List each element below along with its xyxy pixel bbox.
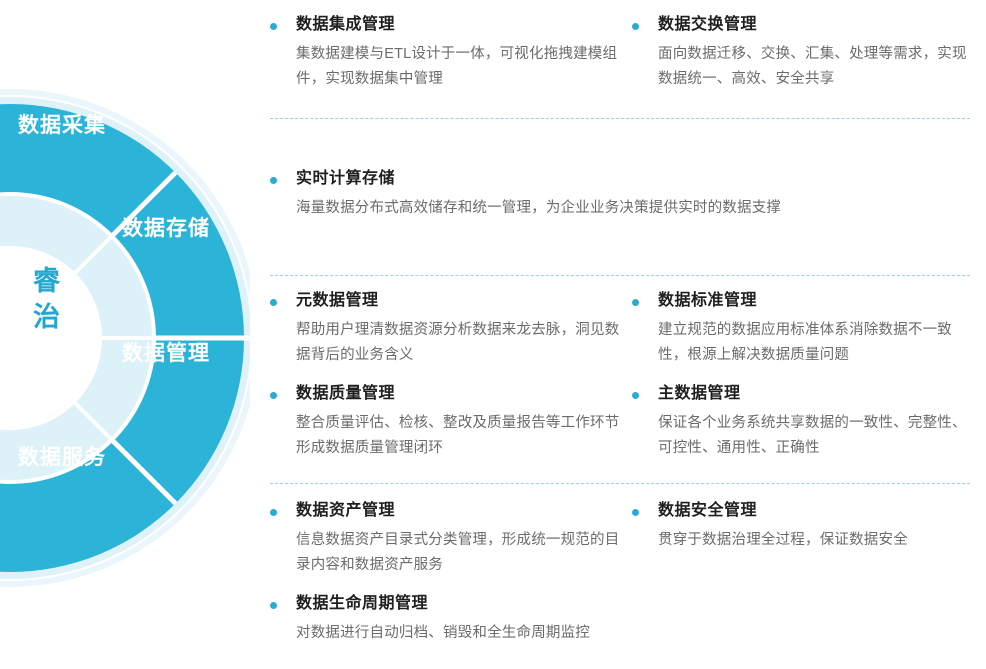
wheel-core-label-line-1: 睿 [33, 266, 61, 296]
detail-item[interactable]: 数据生命周期管理 对数据进行自动归档、销毁和全生命周期监控 [270, 593, 620, 646]
detail-item[interactable]: 数据交换管理 面向数据迁移、交换、汇集、处理等需求，实现数据统一、高效、安全共享 [632, 14, 980, 91]
detail-item[interactable]: 实时计算存储 海量数据分布式高效储存和统一管理，为企业业务决策提供实时的数据支撑 [270, 168, 982, 221]
group-divider [270, 275, 970, 276]
bullet-icon [632, 509, 639, 516]
detail-item-title: 数据集成管理 [296, 14, 620, 36]
detail-item-title: 数据安全管理 [658, 500, 980, 522]
detail-item-description: 对数据进行自动归档、销毁和全生命周期监控 [296, 621, 620, 646]
bullet-icon [270, 177, 277, 184]
bullet-icon [632, 23, 639, 30]
bullet-icon [632, 299, 639, 306]
detail-item-title: 数据标准管理 [658, 290, 980, 312]
detail-item-description: 贯穿于数据治理全过程，保证数据安全 [658, 528, 980, 553]
detail-item-description: 海量数据分布式高效储存和统一管理，为企业业务决策提供实时的数据支撑 [296, 196, 982, 221]
capability-wheel-diagram: 睿 治 数据采集 数据存储 数据管理 数据服务 [0, 0, 270, 669]
bullet-icon [270, 392, 277, 399]
detail-item[interactable]: 数据安全管理 贯穿于数据治理全过程，保证数据安全 [632, 500, 980, 553]
detail-column-right: 数据交换管理 面向数据迁移、交换、汇集、处理等需求，实现数据统一、高效、安全共享 [632, 14, 980, 91]
group-divider [270, 118, 970, 119]
detail-item-description: 保证各个业务系统共享数据的一致性、完整性、可控性、通用性、正确性 [658, 411, 980, 461]
detail-item-title: 数据资产管理 [296, 500, 620, 522]
detail-item-description: 集数据建模与ETL设计于一体，可视化拖拽建模组件，实现数据集中管理 [296, 42, 620, 92]
detail-item-description: 面向数据迁移、交换、汇集、处理等需求，实现数据统一、高效、安全共享 [658, 42, 980, 92]
wheel-sector-label-manage[interactable]: 数据管理 [122, 341, 210, 365]
wheel-core-label-line-2: 治 [33, 302, 61, 332]
detail-item-title: 数据交换管理 [658, 14, 980, 36]
detail-item-title: 主数据管理 [658, 383, 980, 405]
detail-column-left: 元数据管理 帮助用户理清数据资源分析数据来龙去脉，洞见数据背后的业务含义 数据质… [270, 290, 620, 461]
group-divider [270, 483, 970, 484]
detail-item-title: 数据质量管理 [296, 383, 620, 405]
detail-column-left: 数据集成管理 集数据建模与ETL设计于一体，可视化拖拽建模组件，实现数据集中管理 [270, 14, 620, 91]
detail-item[interactable]: 数据集成管理 集数据建模与ETL设计于一体，可视化拖拽建模组件，实现数据集中管理 [270, 14, 620, 91]
detail-item[interactable]: 数据资产管理 信息数据资产目录式分类管理，形成统一规范的目录内容和数据资产服务 [270, 500, 620, 577]
wheel-sector-label-storage[interactable]: 数据存储 [122, 216, 210, 240]
detail-item-title: 元数据管理 [296, 290, 620, 312]
bullet-icon [270, 23, 277, 30]
detail-item[interactable]: 数据质量管理 整合质量评估、检核、整改及质量报告等工作环节形成数据质量管理闭环 [270, 383, 620, 460]
detail-item-description: 信息数据资产目录式分类管理，形成统一规范的目录内容和数据资产服务 [296, 528, 620, 578]
bullet-icon [632, 392, 639, 399]
detail-item-description: 整合质量评估、检核、整改及质量报告等工作环节形成数据质量管理闭环 [296, 411, 620, 461]
bullet-icon [270, 509, 277, 516]
detail-item-title: 实时计算存储 [296, 168, 982, 190]
bullet-icon [270, 602, 277, 609]
detail-item[interactable]: 元数据管理 帮助用户理清数据资源分析数据来龙去脉，洞见数据背后的业务含义 [270, 290, 620, 367]
wheel-sector-label-service[interactable]: 数据服务 [18, 445, 106, 469]
detail-item[interactable]: 数据标准管理 建立规范的数据应用标准体系消除数据不一致性，根源上解决数据质量问题 [632, 290, 980, 367]
capability-wheel-svg: 睿 治 数据采集 数据存储 数据管理 数据服务 [0, 0, 270, 669]
bullet-icon [270, 299, 277, 306]
detail-column-left: 实时计算存储 海量数据分布式高效储存和统一管理，为企业业务决策提供实时的数据支撑 [270, 168, 982, 221]
detail-item[interactable]: 主数据管理 保证各个业务系统共享数据的一致性、完整性、可控性、通用性、正确性 [632, 383, 980, 460]
detail-column-right: 数据标准管理 建立规范的数据应用标准体系消除数据不一致性，根源上解决数据质量问题… [632, 290, 980, 461]
detail-item-description: 帮助用户理清数据资源分析数据来龙去脉，洞见数据背后的业务含义 [296, 318, 620, 368]
detail-column-right: 数据安全管理 贯穿于数据治理全过程，保证数据安全 [632, 500, 980, 553]
wheel-sector-label-collect[interactable]: 数据采集 [18, 113, 106, 137]
detail-item-description: 建立规范的数据应用标准体系消除数据不一致性，根源上解决数据质量问题 [658, 318, 980, 368]
capability-detail-panel: 数据集成管理 集数据建模与ETL设计于一体，可视化拖拽建模组件，实现数据集中管理… [270, 0, 986, 669]
detail-item-title: 数据生命周期管理 [296, 593, 620, 615]
detail-column-left: 数据资产管理 信息数据资产目录式分类管理，形成统一规范的目录内容和数据资产服务 … [270, 500, 620, 646]
